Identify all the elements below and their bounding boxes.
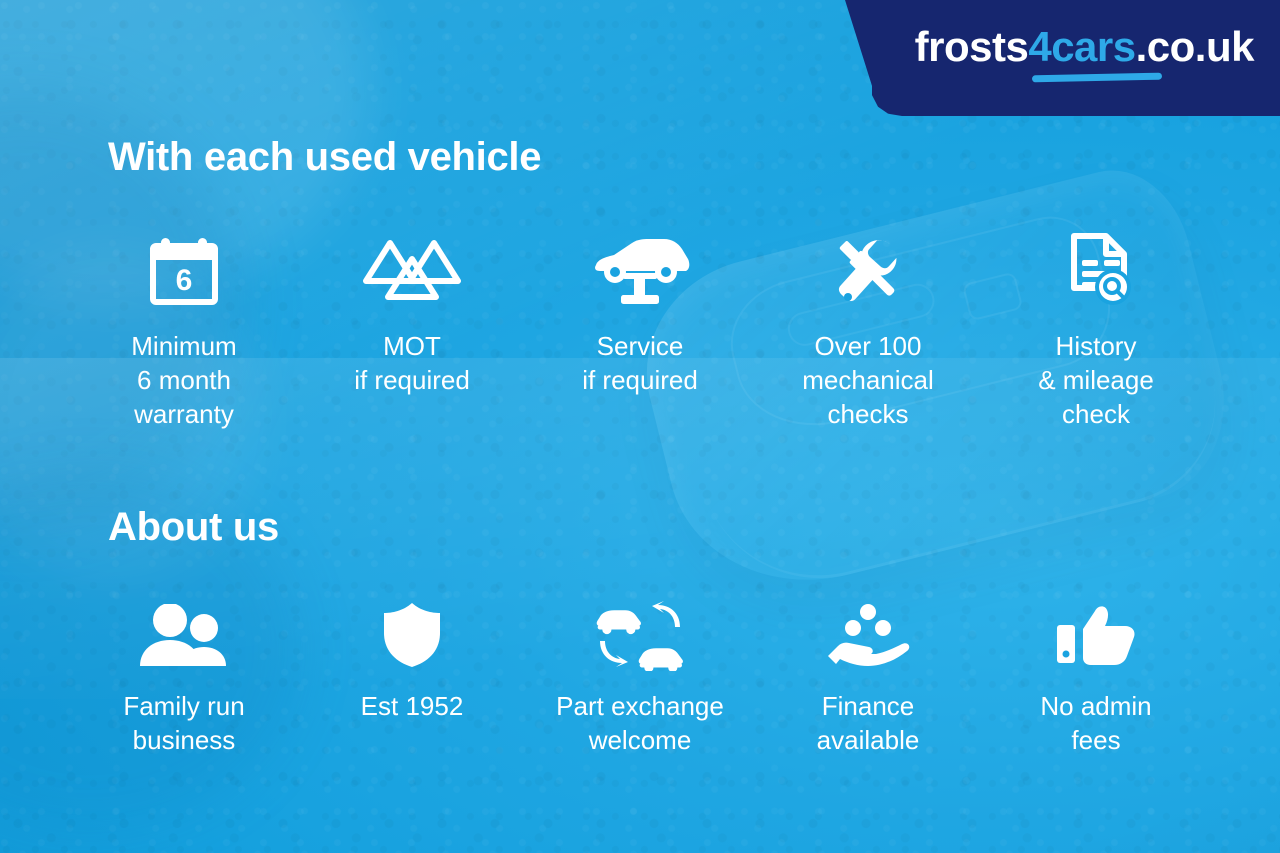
feature-item-family: Family run business bbox=[70, 600, 298, 758]
feature-item-finance: Finance available bbox=[754, 600, 982, 758]
shield-icon bbox=[381, 600, 443, 670]
feature-item-no-admin-fees: No admin fees bbox=[982, 600, 1210, 758]
feature-item-warranty: 6 Minimum 6 month warranty bbox=[70, 232, 298, 431]
hand-coins-icon bbox=[824, 600, 912, 670]
feature-item-checks: Over 100 mechanical checks bbox=[754, 232, 982, 431]
feature-label: Minimum 6 month warranty bbox=[131, 330, 236, 431]
section-title-about: About us bbox=[108, 505, 279, 550]
feature-label: Over 100 mechanical checks bbox=[802, 330, 934, 431]
feature-label: Finance available bbox=[817, 690, 920, 758]
feature-item-history: History & mileage check bbox=[982, 232, 1210, 431]
feature-label: No admin fees bbox=[1040, 690, 1151, 758]
car-exchange-icon bbox=[592, 600, 688, 670]
feature-label: Est 1952 bbox=[361, 690, 464, 724]
wrench-screwdriver-icon bbox=[826, 232, 910, 308]
feature-label: MOT if required bbox=[354, 330, 470, 398]
promo-banner: frosts4cars.co.uk With each used vehicle… bbox=[0, 0, 1280, 853]
calendar-6-icon: 6 bbox=[149, 232, 219, 308]
mot-triangles-icon bbox=[360, 232, 464, 308]
document-search-icon bbox=[1056, 232, 1136, 308]
feature-item-mot: MOT if required bbox=[298, 232, 526, 398]
feature-row-about: Family run business Est 1952 bbox=[70, 600, 1210, 758]
feature-item-service: Service if required bbox=[526, 232, 754, 398]
svg-text:6: 6 bbox=[176, 264, 193, 297]
two-people-icon bbox=[138, 600, 230, 670]
feature-label: Part exchange welcome bbox=[556, 690, 724, 758]
section-title-vehicle: With each used vehicle bbox=[108, 135, 541, 180]
feature-label: Service if required bbox=[582, 330, 698, 398]
feature-row-vehicle: 6 Minimum 6 month warranty MOT if requir… bbox=[70, 232, 1210, 431]
feature-item-est: Est 1952 bbox=[298, 600, 526, 724]
feature-label: History & mileage check bbox=[1038, 330, 1154, 431]
thumbs-up-icon bbox=[1053, 600, 1139, 670]
feature-label: Family run business bbox=[123, 690, 244, 758]
feature-item-part-exchange: Part exchange welcome bbox=[526, 600, 754, 758]
car-on-lift-icon bbox=[586, 232, 694, 308]
